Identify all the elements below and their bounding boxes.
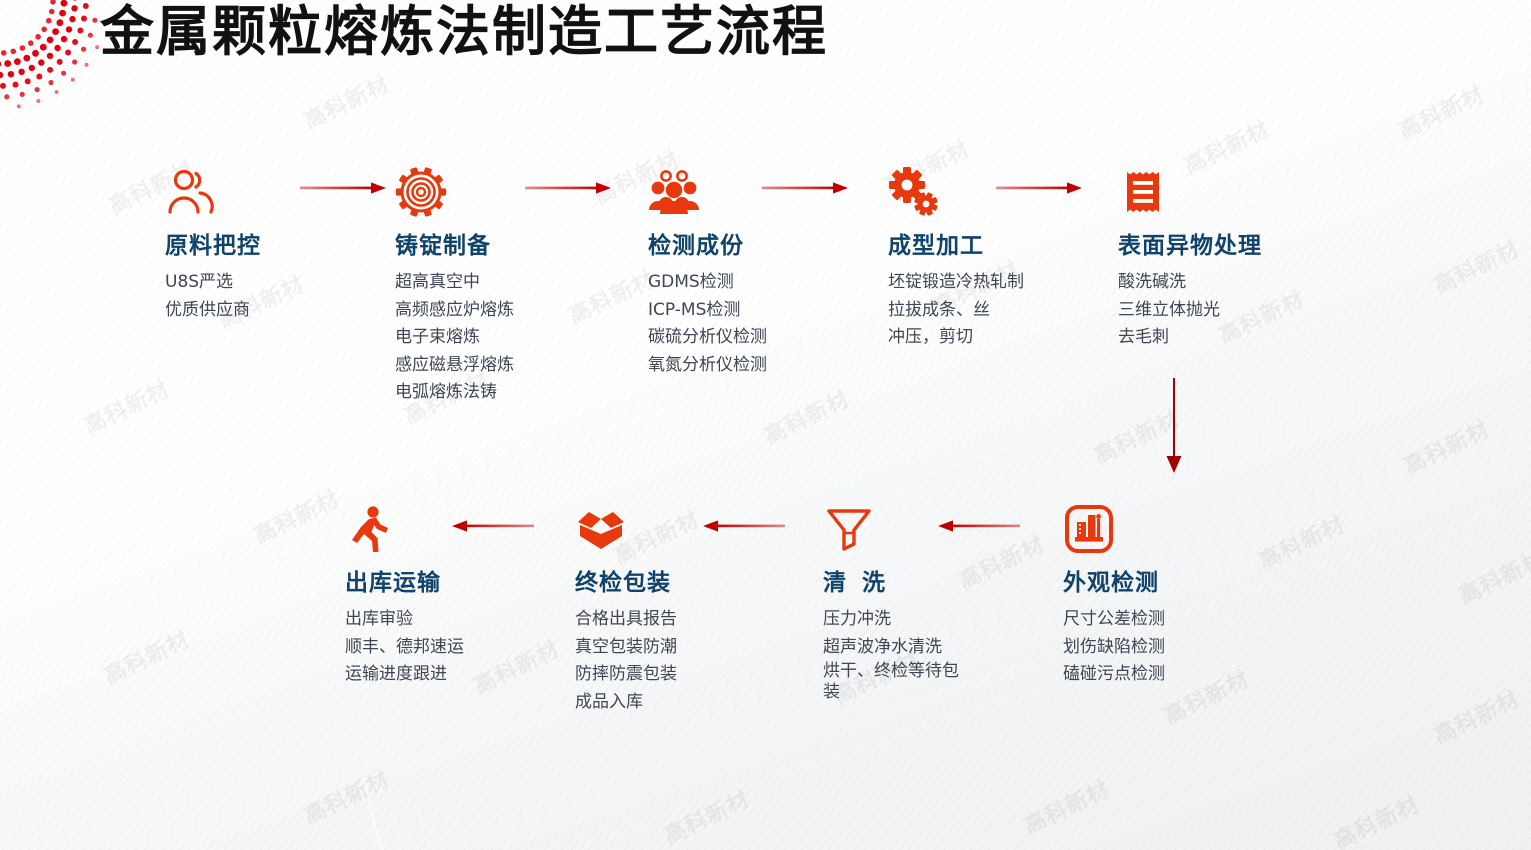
process-step-detail-line: 顺丰、德邦速运 <box>345 634 464 662</box>
process-step-detail-line: 去毛刺 <box>1118 324 1262 352</box>
process-step-title: 清洗 <box>823 563 975 597</box>
process-step-title: 检测成份 <box>648 226 767 260</box>
process-step-detail-list: 出库审验顺丰、德邦速运运输进度跟进 <box>345 606 464 689</box>
process-step-title: 表面异物处理 <box>1118 226 1262 260</box>
people-group-icon <box>648 166 700 218</box>
process-step-detail-line: 超高真空中 <box>395 269 514 297</box>
process-step-detail-line: 出库审验 <box>345 606 464 634</box>
process-step-detail-line: 真空包装防潮 <box>575 634 677 662</box>
process-step-detail-line: 碳硫分析仪检测 <box>648 324 767 352</box>
process-step-title: 成型加工 <box>888 226 1024 260</box>
walking-person-icon <box>345 503 397 555</box>
process-step-detail-line: ICP-MS检测 <box>648 297 767 325</box>
process-step-detail-line: U8S严选 <box>165 269 261 297</box>
process-step-detail-list: 超高真空中高频感应炉熔炼电子束熔炼感应磁悬浮熔炼电弧熔炼法铸 <box>395 269 514 407</box>
process-step-detail-line: 感应磁悬浮熔炼 <box>395 352 514 380</box>
process-step-detail-line: 防摔防震包装 <box>575 661 677 689</box>
process-step-detail-line: 电弧熔炼法铸 <box>395 379 514 407</box>
gear-outline-icon <box>395 166 447 218</box>
process-step-detail-line: 高频感应炉熔炼 <box>395 297 514 325</box>
process-step-title: 外观检测 <box>1063 563 1165 597</box>
process-step-detail-line: 拉拔成条、丝 <box>888 297 1024 325</box>
process-step-detail-line: 优质供应商 <box>165 297 261 325</box>
process-step-icon-wrap <box>395 160 514 218</box>
process-step-detail-line: 合格出具报告 <box>575 606 677 634</box>
process-flow-diagram: 原料把控U8S严选优质供应商 铸锭制备超高真空中高频感应炉熔炼电子束熔炼感应磁悬… <box>0 0 1531 850</box>
flow-arrow-left-3 <box>938 519 1020 533</box>
process-step[interactable]: 外观检测尺寸公差检测划伤缺陷检测磕碰污点检测 <box>1063 497 1165 689</box>
process-step-detail-line: 烘干、终检等待包装 <box>823 661 975 704</box>
two-people-outline-icon <box>165 166 217 218</box>
process-step-icon-wrap <box>345 497 464 555</box>
process-step-icon-wrap <box>575 497 677 555</box>
process-step-title: 原料把控 <box>165 226 261 260</box>
process-step-detail-list: 压力冲洗超声波净水清洗烘干、终检等待包装 <box>823 606 975 704</box>
process-step-detail-list: 尺寸公差检测划伤缺陷检测磕碰污点检测 <box>1063 606 1165 689</box>
flow-arrow-right-4 <box>996 181 1082 195</box>
process-step-icon-wrap <box>1063 497 1165 555</box>
process-step-detail-line: 三维立体抛光 <box>1118 297 1262 325</box>
process-step-detail-line: 成品入库 <box>575 689 677 717</box>
process-step[interactable]: 终检包装合格出具报告真空包装防潮防摔防震包装成品入库 <box>575 497 677 716</box>
process-step-detail-list: GDMS检测ICP-MS检测碳硫分析仪检测氧氮分析仪检测 <box>648 269 767 379</box>
process-step-detail-line: 酸洗碱洗 <box>1118 269 1262 297</box>
process-step[interactable]: 原料把控U8S严选优质供应商 <box>165 160 261 324</box>
flow-arrow-left-1 <box>452 519 534 533</box>
process-step-detail-list: 坯锭锻造冷热轧制拉拔成条、丝冲压，剪切 <box>888 269 1024 352</box>
process-step-title: 终检包装 <box>575 563 677 597</box>
process-step-detail-line: 运输进度跟进 <box>345 661 464 689</box>
open-box-icon <box>575 503 627 555</box>
process-step[interactable]: 铸锭制备超高真空中高频感应炉熔炼电子束熔炼感应磁悬浮熔炼电弧熔炼法铸 <box>395 160 514 407</box>
dual-gears-icon <box>888 166 940 218</box>
flow-arrow-down <box>1164 378 1184 479</box>
process-step-detail-list: 酸洗碱洗三维立体抛光去毛刺 <box>1118 269 1262 352</box>
page-title: 金属颗粒熔炼法制造工艺流程 <box>100 4 828 61</box>
process-step-icon-wrap <box>165 160 261 218</box>
factory-badge-icon <box>1063 503 1115 555</box>
funnel-icon <box>823 503 875 555</box>
process-step[interactable]: 检测成份GDMS检测ICP-MS检测碳硫分析仪检测氧氮分析仪检测 <box>648 160 767 379</box>
process-step-icon-wrap <box>1118 160 1262 218</box>
process-step-detail-line: 尺寸公差检测 <box>1063 606 1165 634</box>
flow-arrow-right-1 <box>300 181 386 195</box>
flow-arrow-left-2 <box>703 519 785 533</box>
process-step-detail-line: 超声波净水清洗 <box>823 634 975 662</box>
flow-arrow-right-2 <box>525 181 611 195</box>
process-step-detail-line: 氧氮分析仪检测 <box>648 352 767 380</box>
process-step-detail-list: U8S严选优质供应商 <box>165 269 261 324</box>
process-step-title: 铸锭制备 <box>395 226 514 260</box>
process-step-title: 出库运输 <box>345 563 464 597</box>
process-step-detail-line: 压力冲洗 <box>823 606 975 634</box>
process-step[interactable]: 表面异物处理酸洗碱洗三维立体抛光去毛刺 <box>1118 160 1262 352</box>
process-step-detail-line: 冲压，剪切 <box>888 324 1024 352</box>
document-lines-icon <box>1118 166 1170 218</box>
process-step-detail-line: 坯锭锻造冷热轧制 <box>888 269 1024 297</box>
process-step-detail-line: GDMS检测 <box>648 269 767 297</box>
process-step-detail-line: 划伤缺陷检测 <box>1063 634 1165 662</box>
process-step-icon-wrap <box>648 160 767 218</box>
process-step[interactable]: 出库运输出库审验顺丰、德邦速运运输进度跟进 <box>345 497 464 689</box>
process-step-detail-line: 磕碰污点检测 <box>1063 661 1165 689</box>
flow-arrow-right-3 <box>762 181 848 195</box>
process-step-detail-list: 合格出具报告真空包装防潮防摔防震包装成品入库 <box>575 606 677 716</box>
process-step-detail-line: 电子束熔炼 <box>395 324 514 352</box>
